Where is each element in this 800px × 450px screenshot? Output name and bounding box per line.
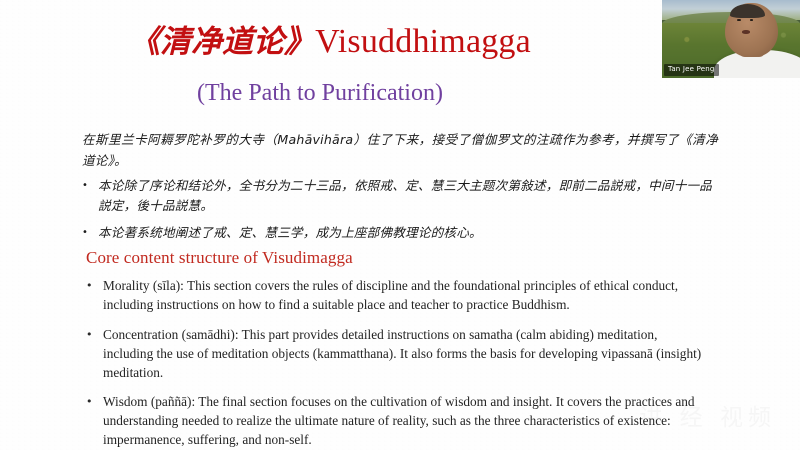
list-item: • Wisdom (paññā): The final section focu… xyxy=(86,393,708,450)
bullet-marker: • xyxy=(86,277,103,294)
list-item-text: Concentration (samādhi): This part provi… xyxy=(103,326,708,383)
list-item: • 本论除了序论和结论外，全书分为二十三品，依照戒、定、慧三大主题次第敍述，即前… xyxy=(82,176,722,217)
english-bullet-list: • Morality (sīla): This section covers t… xyxy=(86,277,708,450)
list-item-text: Morality (sīla): This section covers the… xyxy=(103,277,708,315)
video-participant-tile[interactable]: Tan Jee Peng xyxy=(662,0,800,78)
bullet-marker: • xyxy=(82,223,98,242)
list-item-text: 本论著系统地阐述了戒、定、慧三学，成为上座部佛教理论的核心。 xyxy=(98,223,722,243)
video-person-hair xyxy=(730,4,765,18)
chinese-paragraph: 在斯里兰卡阿耨罗陀补罗的大寺（Mahāvihāra）住了下来，接受了僧伽罗文的注… xyxy=(82,130,718,172)
presentation-slide: 《清净道论》Visuddhimagga (The Path to Purific… xyxy=(0,0,800,450)
list-item-text: Wisdom (paññā): The final section focuse… xyxy=(103,393,708,450)
participant-name-label: Tan Jee Peng xyxy=(664,64,719,76)
chinese-bullet-list: • 本论除了序论和结论外，全书分为二十三品，依照戒、定、慧三大主题次第敍述，即前… xyxy=(82,176,722,249)
video-person-eye-right xyxy=(750,19,754,21)
bullet-marker: • xyxy=(82,176,98,195)
video-person-head xyxy=(725,3,778,57)
list-item-text: 本论除了序论和结论外，全书分为二十三品，依照戒、定、慧三大主题次第敍述，即前二品… xyxy=(98,176,722,217)
slide-subtitle: (The Path to Purification) xyxy=(0,80,640,107)
slide-title: 《清净道论》Visuddhimagga xyxy=(0,22,660,62)
video-person-eye-left xyxy=(737,19,741,21)
video-person-mouth xyxy=(742,30,750,34)
list-item: • Concentration (samādhi): This part pro… xyxy=(86,326,708,383)
english-section-heading: Core content structure of Visudimagga xyxy=(86,248,353,268)
video-person xyxy=(714,0,800,78)
slide-title-latin: Visuddhimagga xyxy=(315,23,531,60)
list-item: • Morality (sīla): This section covers t… xyxy=(86,277,708,315)
bullet-marker: • xyxy=(86,393,103,410)
slide-title-chinese: 《清净道论》 xyxy=(129,24,315,60)
bullet-marker: • xyxy=(86,326,103,343)
list-item: • 本论著系统地阐述了戒、定、慧三学，成为上座部佛教理论的核心。 xyxy=(82,223,722,243)
